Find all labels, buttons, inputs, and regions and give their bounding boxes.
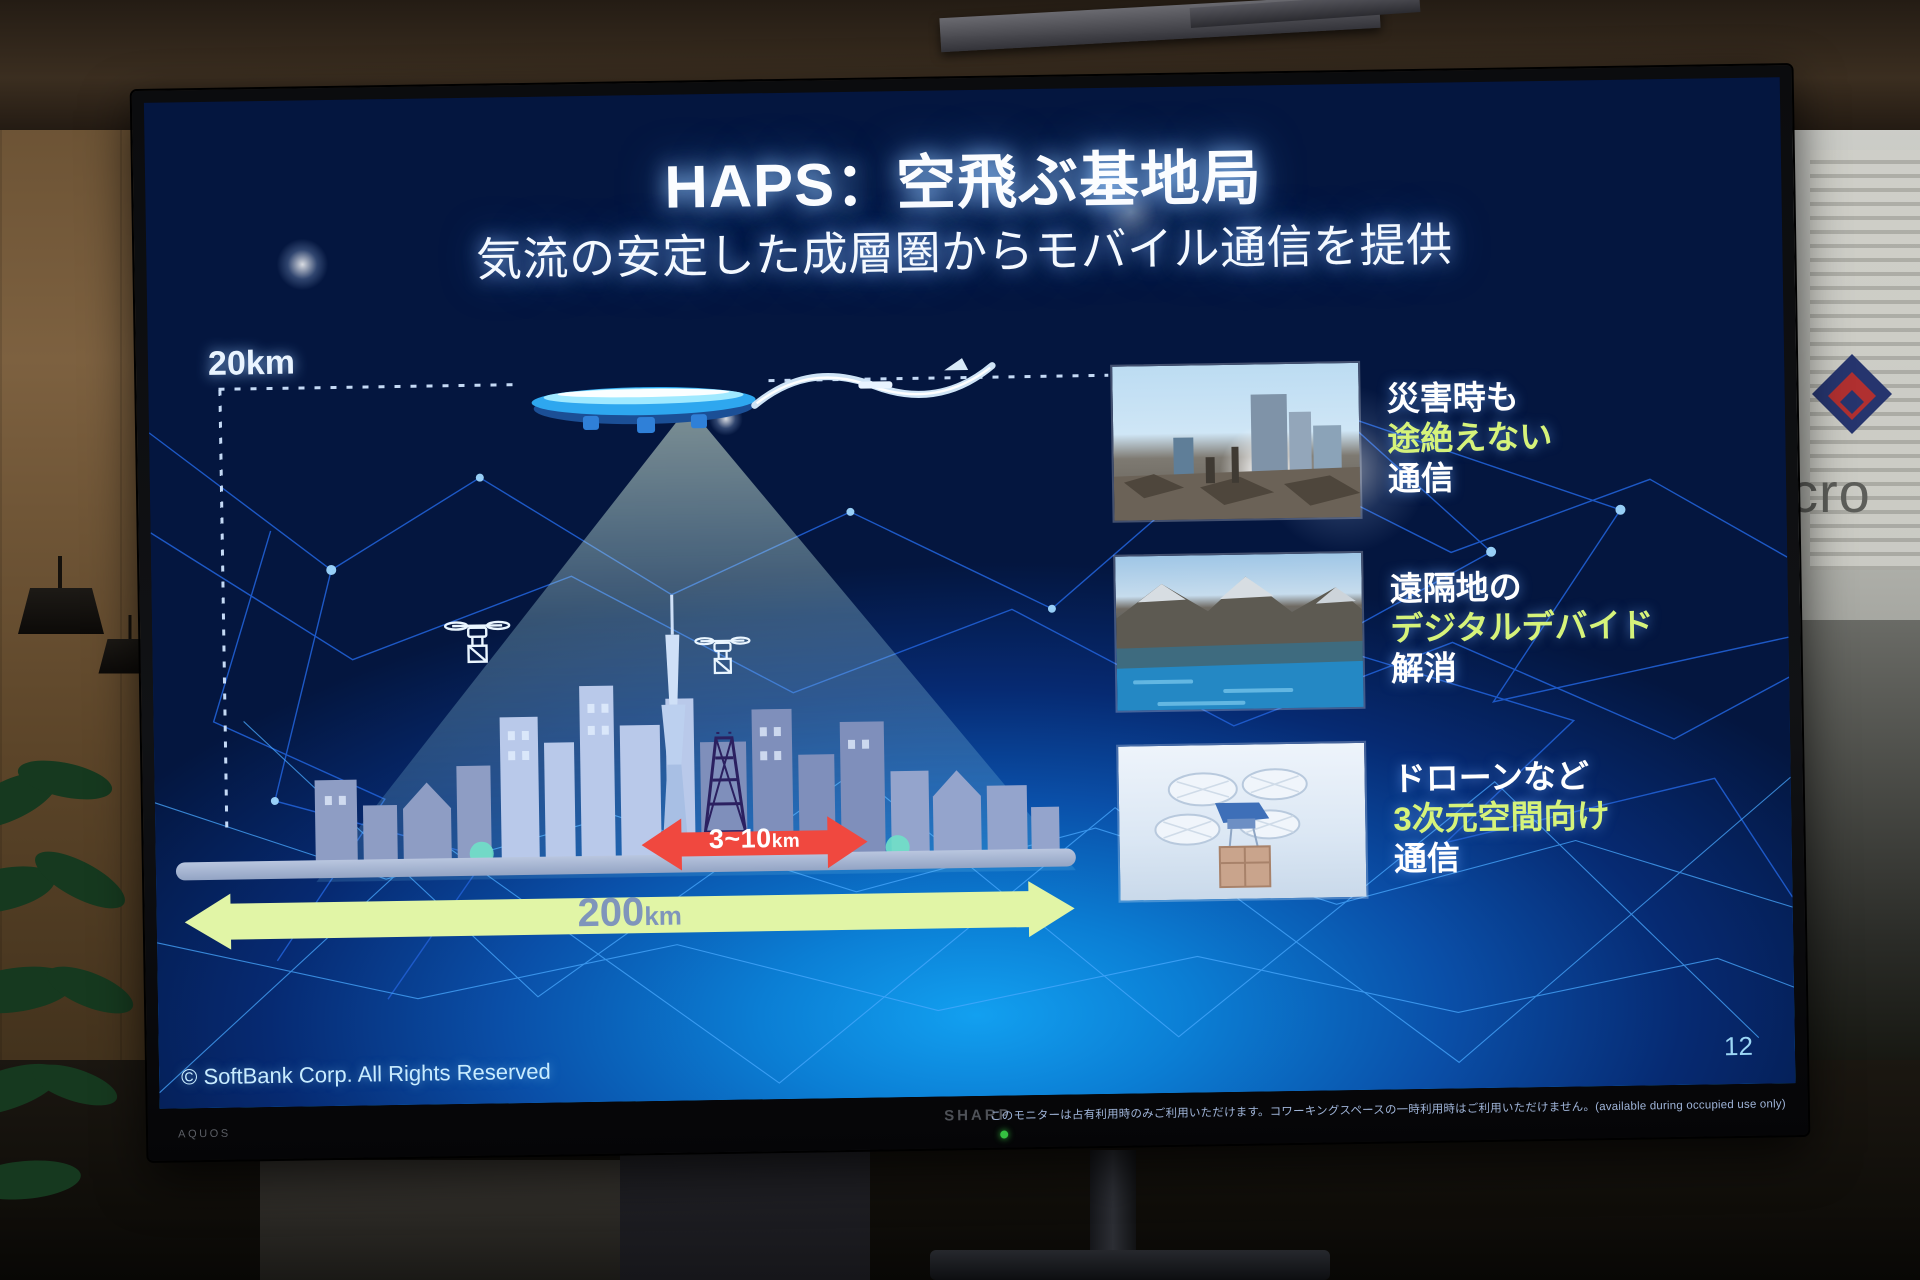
aquos-logo: AQUOS bbox=[178, 1128, 231, 1141]
television: AQUOS SHARP このモニターは占有利用時のみご利用いただけます。コワーキ… bbox=[132, 65, 1809, 1161]
benefit-line-2: 途絶えない bbox=[1387, 417, 1553, 460]
benefit-card-text: ドローンなど 3次元空間向け 通信 bbox=[1392, 756, 1610, 880]
cell-radius-unit: km bbox=[772, 831, 801, 852]
haps-airship-icon bbox=[518, 361, 769, 445]
presentation-slide: HAPS：空飛ぶ基地局 気流の安定した成層圏からモバイル通信を提供 20km bbox=[144, 77, 1796, 1109]
solar-plane-icon bbox=[748, 340, 999, 434]
tv-stand-base bbox=[930, 1250, 1330, 1280]
drone-icon-left bbox=[442, 617, 513, 678]
tv-screen: HAPS：空飛ぶ基地局 気流の安定した成層圏からモバイル通信を提供 20km bbox=[144, 77, 1796, 1109]
benefit-line-1: 遠隔地の bbox=[1389, 565, 1653, 609]
benefit-line-1: ドローンなど bbox=[1392, 756, 1609, 800]
remote-coastline-photo bbox=[1113, 551, 1365, 713]
delivery-drone-photo bbox=[1116, 741, 1368, 903]
benefit-line-3: 解消 bbox=[1391, 645, 1655, 689]
altitude-label: 20km bbox=[208, 344, 296, 384]
screenshot-root: cro bbox=[0, 0, 1920, 1280]
page-number: 12 bbox=[1724, 1031, 1753, 1062]
benefit-line-2: 3次元空間向け bbox=[1393, 796, 1610, 840]
coverage-value: 200 bbox=[577, 890, 644, 935]
power-led-indicator bbox=[1000, 1130, 1008, 1138]
benefit-card: 遠隔地の デジタルデバイド 解消 bbox=[1113, 540, 1756, 718]
company-name-label: cro bbox=[1790, 460, 1871, 525]
benefit-line-3: 通信 bbox=[1394, 836, 1611, 880]
benefit-card-list: 災害時も 途絶えない 通信 bbox=[1110, 350, 1759, 908]
benefit-line-3: 通信 bbox=[1388, 457, 1554, 500]
benefit-card: ドローンなど 3次元空間向け 通信 bbox=[1116, 730, 1759, 908]
benefit-card-text: 遠隔地の デジタルデバイド 解消 bbox=[1389, 565, 1654, 690]
cell-radius-label: 3~10km bbox=[641, 822, 867, 857]
disaster-city-photo bbox=[1110, 361, 1362, 523]
benefit-card-text: 災害時も 途絶えない 通信 bbox=[1386, 376, 1553, 499]
coverage-unit: km bbox=[644, 901, 682, 932]
cell-radius-value: 3~10 bbox=[709, 823, 772, 854]
benefit-line-2: デジタルデバイド bbox=[1390, 605, 1654, 649]
benefit-card: 災害時も 途絶えない 通信 bbox=[1110, 350, 1753, 528]
benefit-line-1: 災害時も bbox=[1386, 376, 1552, 419]
desk bbox=[260, 1160, 680, 1280]
drone-icon-right bbox=[692, 633, 753, 686]
